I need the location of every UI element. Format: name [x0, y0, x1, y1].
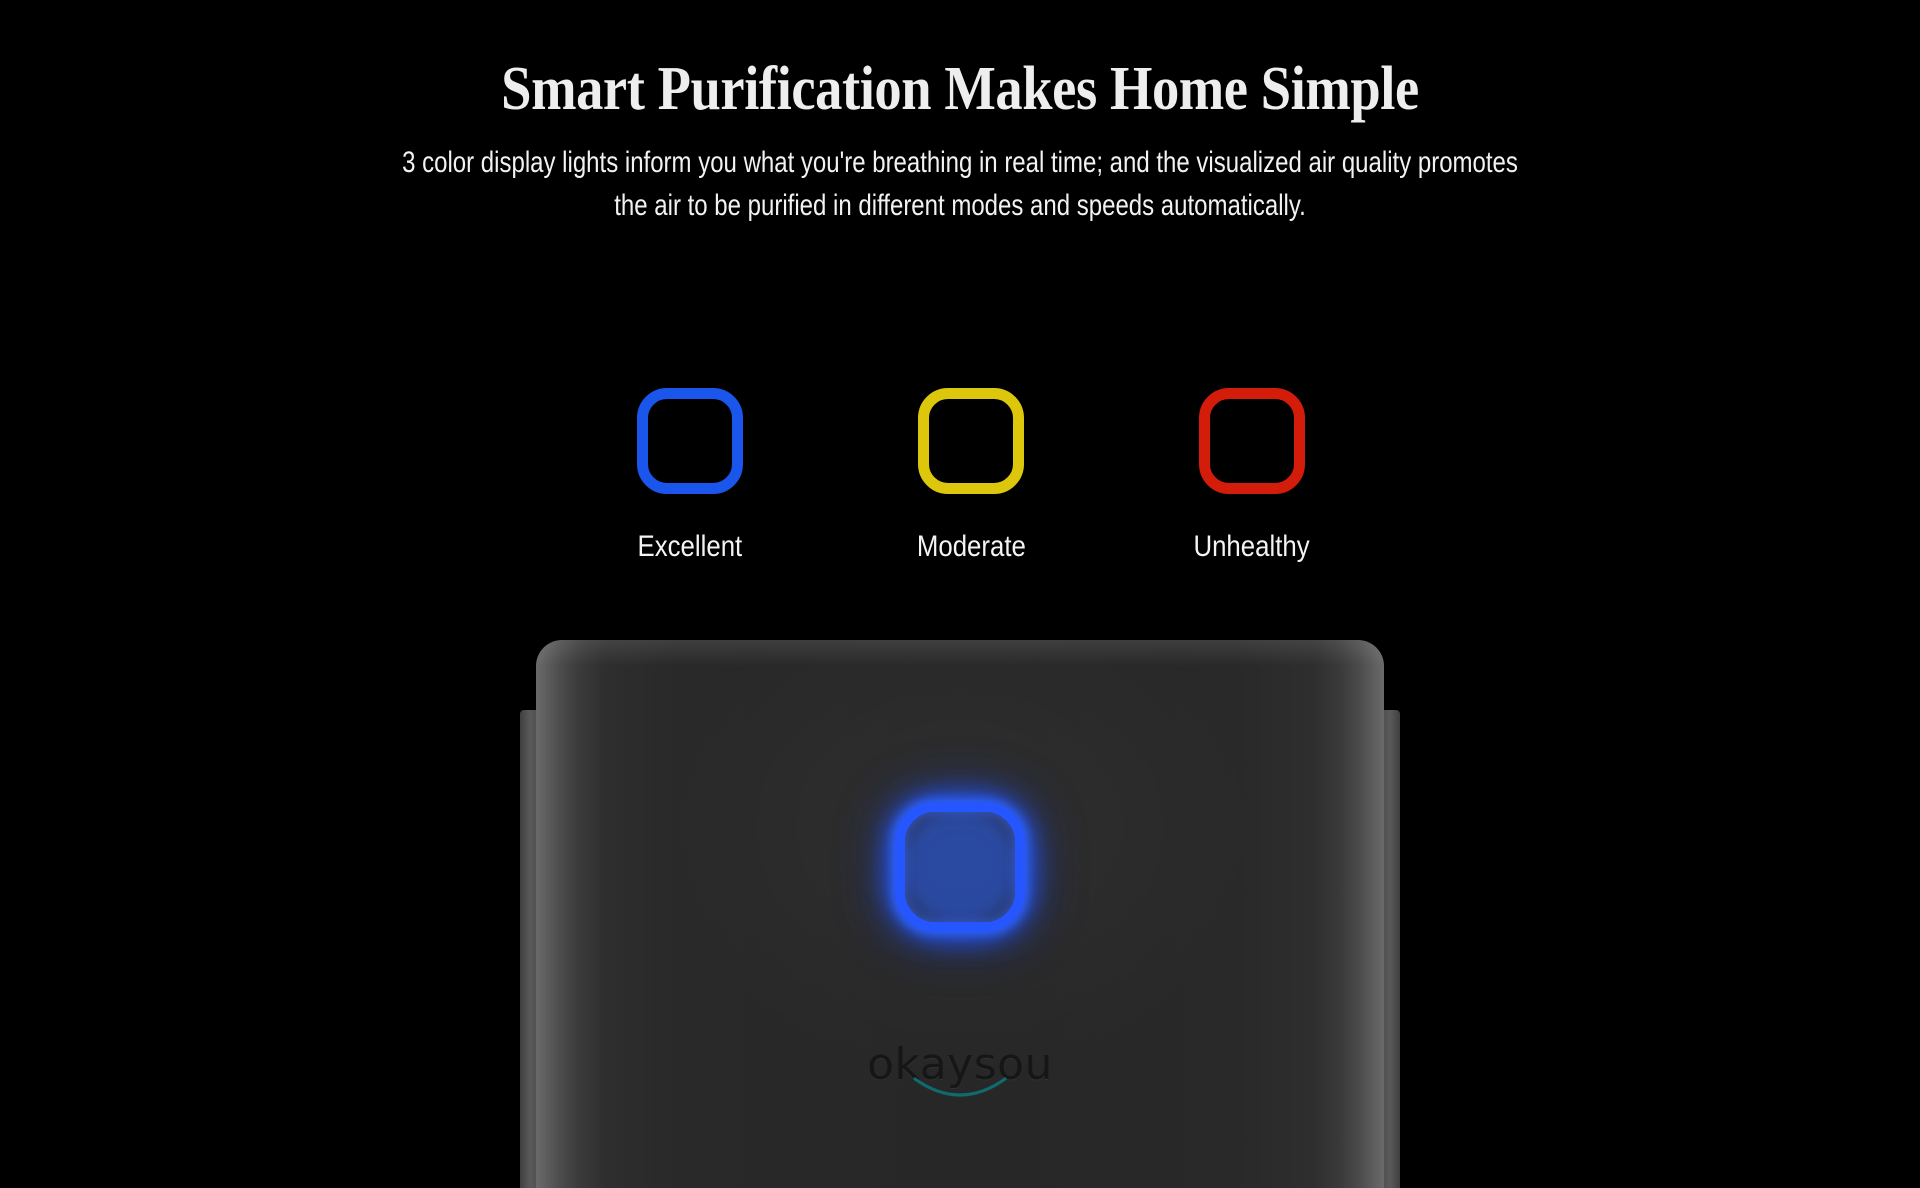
legend-item-unhealthy: Unhealthy: [1170, 388, 1334, 564]
air-quality-legend: Excellent Moderate Unhealthy: [0, 388, 1920, 564]
device-indicator: [895, 802, 1025, 932]
legend-item-moderate: Moderate: [889, 388, 1053, 564]
okaysou-smile-arc-icon: [911, 1075, 1009, 1109]
glowing-rounded-square-indicator-icon: [895, 802, 1025, 932]
air-purifier-device: okaysou: [520, 640, 1400, 1188]
legend-label-moderate: Moderate: [916, 530, 1025, 564]
page-title: Smart Purification Makes Home Simple: [115, 0, 1805, 120]
legend-label-excellent: Excellent: [638, 530, 743, 564]
rounded-square-outline-blue-icon: [637, 388, 743, 494]
rounded-square-outline-yellow-icon: [918, 388, 1024, 494]
header: Smart Purification Makes Home Simple 3 c…: [0, 0, 1920, 227]
legend-label-unhealthy: Unhealthy: [1194, 530, 1310, 564]
product-feature-panel: Smart Purification Makes Home Simple 3 c…: [0, 0, 1920, 1188]
legend-item-excellent: Excellent: [608, 388, 772, 564]
rounded-square-outline-red-icon: [1199, 388, 1305, 494]
brand-logo: okaysou: [810, 1043, 1110, 1087]
page-subtitle: 3 color display lights inform you what y…: [256, 142, 1664, 227]
